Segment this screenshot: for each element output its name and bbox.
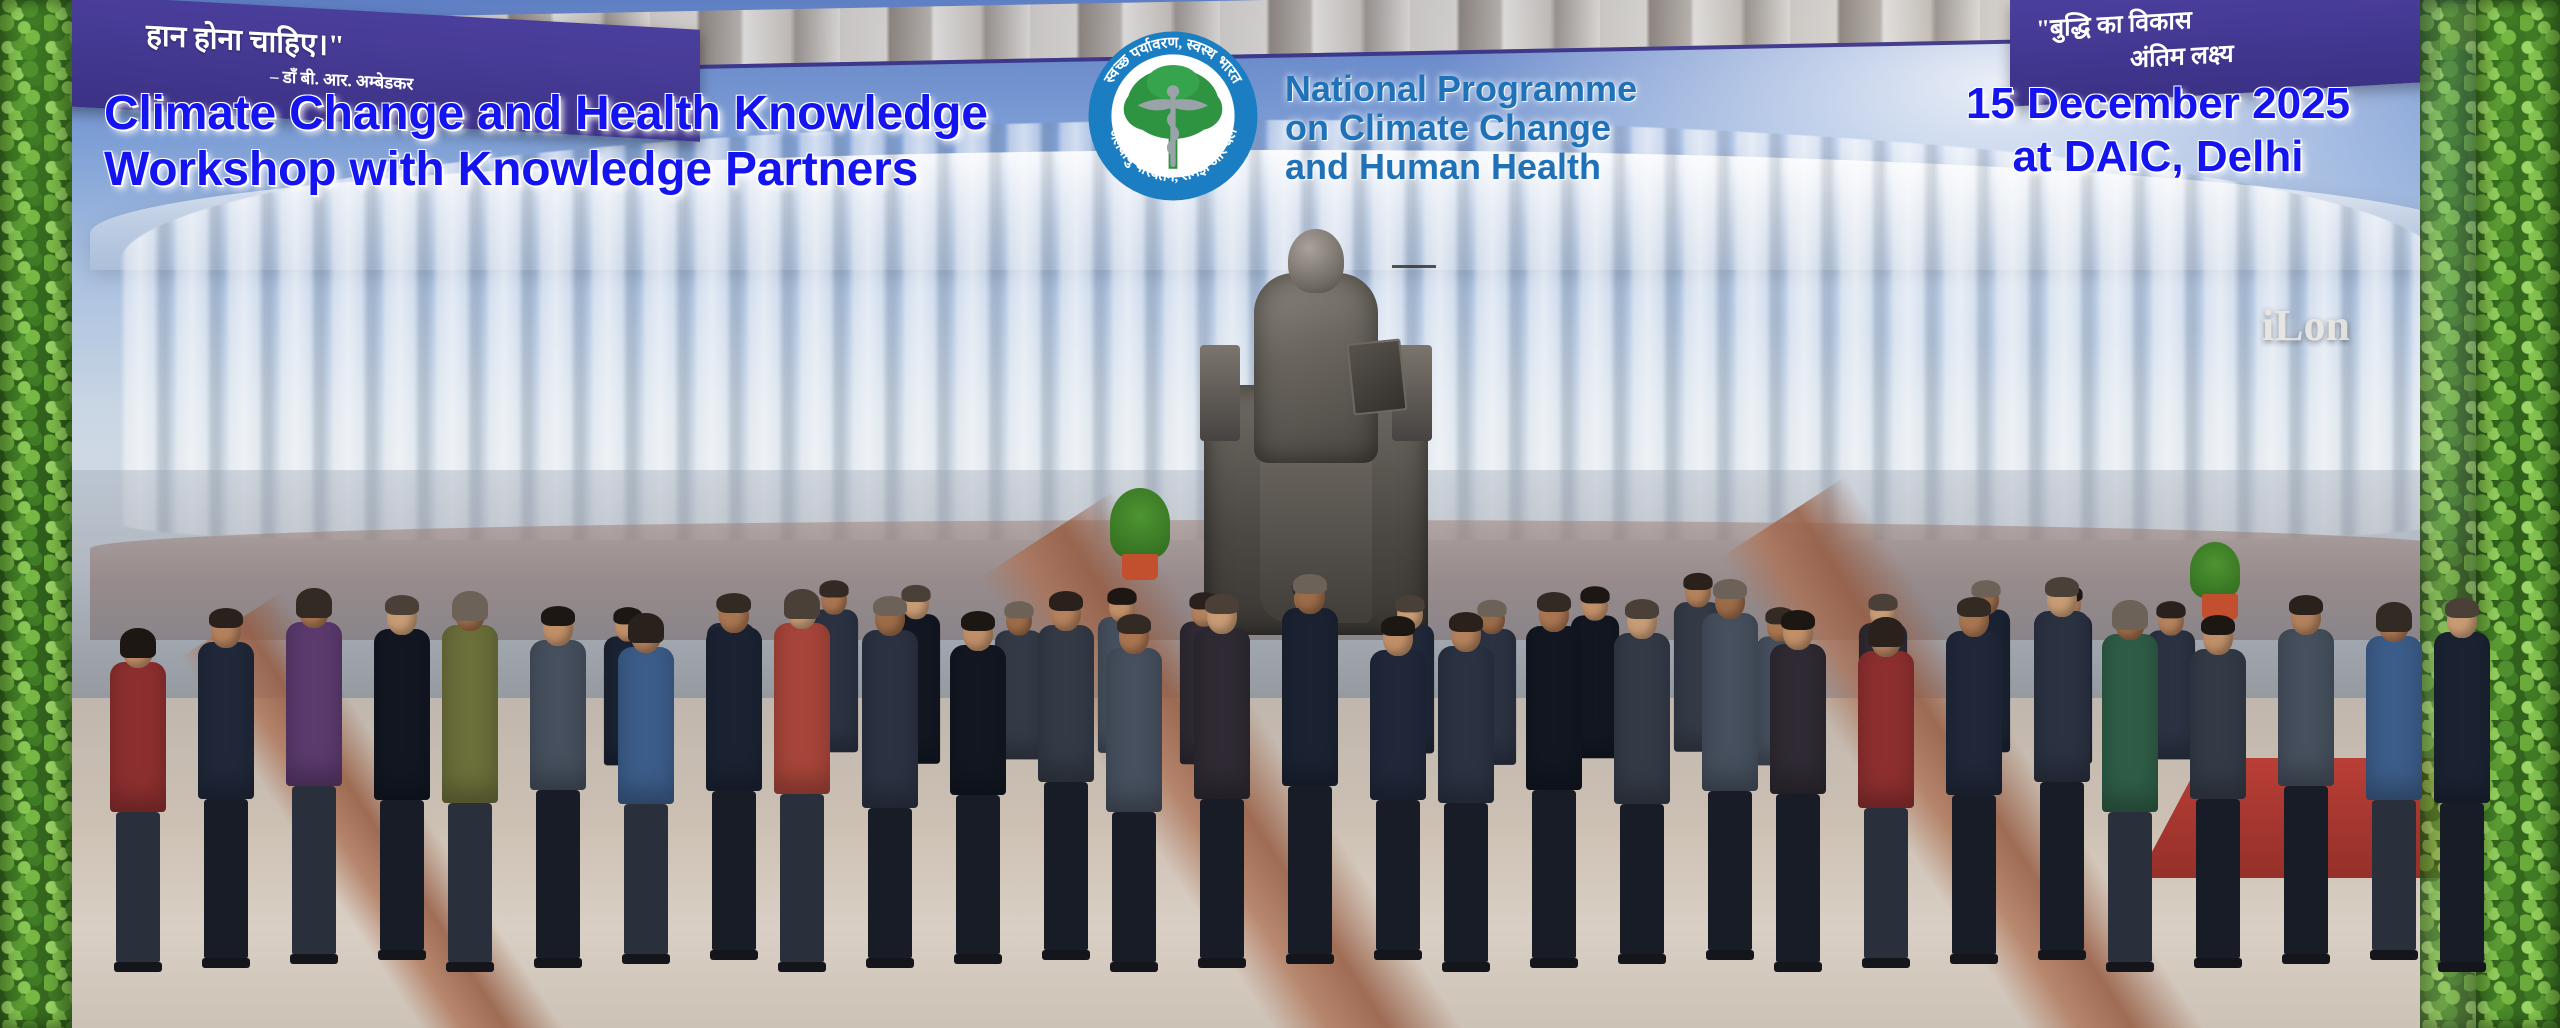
signboard-right-line2: अंतिम लक्ष्य <box>2130 35 2234 75</box>
event-group-photo-poster: हान होना चाहिए।" – डॉं बी. आर. अम्बेडकर … <box>0 0 2560 1028</box>
attendee-legs <box>956 795 1000 954</box>
attendee-head <box>211 612 241 648</box>
attendee-shoes <box>2370 950 2418 960</box>
attendee-head <box>1715 583 1745 619</box>
attendee-shoes <box>534 958 582 968</box>
attendee-head <box>1627 603 1657 639</box>
attendee-torso <box>1946 631 2002 795</box>
attendee-torso <box>706 627 762 791</box>
attendee <box>2102 604 2158 972</box>
statue-glasses <box>1392 265 1436 275</box>
attendee <box>1438 616 1494 972</box>
attendee <box>1702 583 1758 960</box>
attendee-head <box>1783 614 1813 650</box>
programme-line-2: on Climate Change <box>1285 109 1637 148</box>
attendee-torso <box>1702 613 1758 791</box>
attendee <box>618 617 674 964</box>
attendee <box>2434 602 2490 972</box>
attendee-head <box>631 617 661 653</box>
attendee-legs <box>624 804 668 954</box>
attendee-legs <box>1532 790 1576 958</box>
attendee <box>950 615 1006 964</box>
attendee-shoes <box>446 962 494 972</box>
attendee <box>2278 599 2334 964</box>
attendee-torso <box>1438 646 1494 803</box>
attendee <box>862 600 918 968</box>
attendee-legs <box>116 812 160 962</box>
attendee-head <box>299 592 329 628</box>
attendee <box>1370 620 1426 960</box>
attendee-hair <box>1049 591 1083 611</box>
attendee-head <box>1207 598 1237 634</box>
attendee-shoes <box>2194 958 2242 968</box>
attendee-torso <box>2034 611 2090 782</box>
event-date: 15 December 2025 <box>1966 78 2350 131</box>
attendee-torso <box>1194 628 1250 799</box>
attendee-torso <box>1282 608 1338 786</box>
attendee-torso <box>862 630 918 808</box>
attendee-hair <box>628 613 664 643</box>
attendee-hair <box>2045 577 2079 597</box>
attendee-hair <box>1868 594 1897 611</box>
programme-line-1: National Programme <box>1285 70 1637 109</box>
attendee <box>1106 618 1162 972</box>
attendee-head <box>1582 590 1608 621</box>
attendee-legs <box>448 803 492 962</box>
attendee-shoes <box>710 950 758 960</box>
attendee-shoes <box>1286 954 1334 964</box>
attendee-shoes <box>1950 954 1998 964</box>
statue-head <box>1288 229 1344 293</box>
attendee-shoes <box>866 958 914 968</box>
attendee-hair <box>717 593 751 613</box>
attendee-hair <box>1537 592 1571 612</box>
attendee-head <box>719 597 749 633</box>
attendee <box>110 632 166 972</box>
attendee <box>2190 619 2246 968</box>
attendee-shoes <box>2106 962 2154 972</box>
attendee-hair <box>2201 615 2235 635</box>
attendee-hair <box>2376 602 2412 632</box>
attendee <box>2366 606 2422 960</box>
attendee <box>774 593 830 972</box>
attendee-head <box>2115 604 2145 640</box>
attendee-head <box>455 595 485 631</box>
attendee-hair <box>1957 597 1991 617</box>
attendee-head <box>1871 621 1901 657</box>
attendee-torso <box>618 647 674 804</box>
attendee-legs <box>1864 808 1908 958</box>
attendee-hair <box>209 608 243 628</box>
programme-name: National Programme on Climate Change and… <box>1285 70 1637 187</box>
attendee-head <box>1119 618 1149 654</box>
attendee-shoes <box>290 954 338 964</box>
attendee-torso <box>2190 649 2246 799</box>
attendee <box>442 595 498 972</box>
attendee-torso <box>2278 629 2334 786</box>
attendee-head <box>123 632 153 668</box>
attendee-hair <box>1449 612 1483 632</box>
attendee-legs <box>1708 791 1752 950</box>
attendee-torso <box>2434 632 2490 803</box>
attendee-torso <box>1106 648 1162 812</box>
attendee-head <box>2158 605 2184 636</box>
attendee-shoes <box>1042 950 1090 960</box>
attendee-hair <box>1868 617 1904 647</box>
attendee-shoes <box>1198 958 1246 968</box>
attendee <box>1194 598 1250 968</box>
attendee-torso <box>374 629 430 800</box>
attendee <box>374 599 430 960</box>
attendee-hair <box>1293 574 1327 594</box>
attendee-shoes <box>1110 962 1158 972</box>
attendee-torso <box>2102 634 2158 812</box>
attendee-head <box>2291 599 2321 635</box>
attendee-torso <box>110 662 166 812</box>
attendee-hair <box>2289 595 2323 615</box>
attendee-hair <box>1713 579 1747 599</box>
attendee <box>1614 603 1670 964</box>
attendee-torso <box>530 640 586 790</box>
title-line-1: Climate Change and Health Knowledge <box>104 86 1114 142</box>
attendee-head <box>543 610 573 646</box>
attendee <box>1526 596 1582 968</box>
attendee-head <box>2379 606 2409 642</box>
attendee-head <box>875 600 905 636</box>
statue-constitution-book <box>1346 338 1407 415</box>
attendee-legs <box>1200 799 1244 958</box>
attendee-torso <box>286 622 342 786</box>
title-line-2: Workshop with Knowledge Partners <box>104 142 1114 198</box>
attendee-legs <box>1620 804 1664 954</box>
attendee-hair <box>541 606 575 626</box>
attendee-hair <box>1004 601 1033 618</box>
attendee <box>530 610 586 968</box>
attendee-hair <box>2156 601 2185 618</box>
attendee <box>198 612 254 968</box>
attendee-shoes <box>2282 954 2330 964</box>
attendee-hair <box>1971 580 2000 597</box>
attendee-legs <box>2108 812 2152 962</box>
attendee-head <box>1451 616 1481 652</box>
attendee-hair <box>1117 614 1151 634</box>
attendee-shoes <box>378 950 426 960</box>
attendee-hair <box>1477 600 1506 617</box>
attendee-hair <box>1205 594 1239 614</box>
attendee-hair <box>385 595 419 615</box>
attendee-hair <box>120 628 156 658</box>
attendee-shoes <box>1706 950 1754 960</box>
attendee-legs <box>536 790 580 958</box>
attendee-head <box>1051 595 1081 631</box>
attendee-head <box>1959 601 1989 637</box>
attendee-hair <box>784 589 820 619</box>
attendee-shoes <box>954 954 1002 964</box>
attendee-head <box>1383 620 1413 656</box>
attendee-shoes <box>1374 950 1422 960</box>
attendee-hair <box>1625 599 1659 619</box>
venue-sign-text: iLon <box>2262 300 2350 351</box>
attendee-legs <box>712 791 756 950</box>
attendee-legs <box>1952 795 1996 954</box>
attendee-head <box>963 615 993 651</box>
attendee-legs <box>380 800 424 950</box>
poster-title: Climate Change and Health Knowledge Work… <box>104 86 1114 197</box>
ivy-column-left <box>0 0 72 1028</box>
attendee-head <box>2447 602 2477 638</box>
attendee-torso <box>1858 651 1914 808</box>
event-venue: at DAIC, Delhi <box>1966 131 2350 184</box>
attendee-legs <box>1776 794 1820 962</box>
attendee-torso <box>1370 650 1426 800</box>
event-date-venue: 15 December 2025 at DAIC, Delhi <box>1966 78 2350 184</box>
attendee-legs <box>1112 812 1156 962</box>
attendee-legs <box>2196 799 2240 958</box>
group-photo-row <box>0 468 2560 1028</box>
attendee-hair <box>452 591 488 621</box>
attendee-head <box>787 593 817 629</box>
attendee-torso <box>1770 644 1826 794</box>
attendee-shoes <box>1862 958 1910 968</box>
attendee-shoes <box>1774 962 1822 972</box>
attendee-head <box>1295 578 1325 614</box>
attendee-hair <box>1395 595 1424 612</box>
attendee <box>1282 578 1338 964</box>
attendee-legs <box>2440 803 2484 962</box>
attendee-head <box>2203 619 2233 655</box>
attendee-shoes <box>114 962 162 972</box>
attendee-torso <box>950 645 1006 795</box>
attendee-torso <box>442 625 498 803</box>
npcchh-emblem: स्वच्छ पर्यावरण, स्वस्थ भारत जलवायु परिव… <box>1085 28 1261 204</box>
attendee-legs <box>1376 800 1420 950</box>
attendee-shoes <box>1530 958 1578 968</box>
attendee-torso <box>1526 626 1582 790</box>
attendee-shoes <box>202 958 250 968</box>
attendee-shoes <box>622 954 670 964</box>
attendee-hair <box>1381 616 1415 636</box>
attendee-legs <box>1444 803 1488 962</box>
attendee-legs <box>204 799 248 958</box>
attendee-head <box>1539 596 1569 632</box>
signboard-quote-text: हान होना चाहिए।" <box>146 13 345 65</box>
attendee-shoes <box>2038 950 2086 960</box>
attendee-shoes <box>2438 962 2486 972</box>
attendee <box>706 597 762 960</box>
attendee <box>1946 601 2002 964</box>
attendee-hair <box>2445 598 2479 618</box>
attendee <box>1038 595 1094 960</box>
attendee-hair <box>1781 610 1815 630</box>
attendee-legs <box>2284 786 2328 954</box>
attendee-torso <box>774 623 830 794</box>
attendee-hair <box>961 611 995 631</box>
attendee <box>1770 614 1826 972</box>
attendee-torso <box>1038 625 1094 782</box>
attendee-head <box>2047 581 2077 617</box>
attendee-shoes <box>778 962 826 972</box>
attendee-hair <box>1580 586 1609 603</box>
attendee-legs <box>868 808 912 958</box>
attendee-hair <box>873 596 907 616</box>
attendee-shoes <box>1618 954 1666 964</box>
attendee-torso <box>1614 633 1670 804</box>
attendee <box>286 592 342 964</box>
attendee-legs <box>1288 786 1332 954</box>
attendee-legs <box>2372 800 2416 950</box>
attendee <box>1858 621 1914 968</box>
attendee-legs <box>2040 782 2084 950</box>
attendee-shoes <box>1442 962 1490 972</box>
attendee <box>2034 581 2090 960</box>
attendee-head <box>1006 605 1032 636</box>
programme-line-3: and Human Health <box>1285 148 1637 187</box>
attendee-torso <box>198 642 254 799</box>
attendee-hair <box>2112 600 2148 630</box>
attendee-head <box>387 599 417 635</box>
attendee-legs <box>780 794 824 962</box>
attendee-legs <box>1044 782 1088 950</box>
attendee-hair <box>1107 588 1136 605</box>
attendee-hair <box>296 588 332 618</box>
attendee-torso <box>2366 636 2422 800</box>
attendee-legs <box>292 786 336 954</box>
